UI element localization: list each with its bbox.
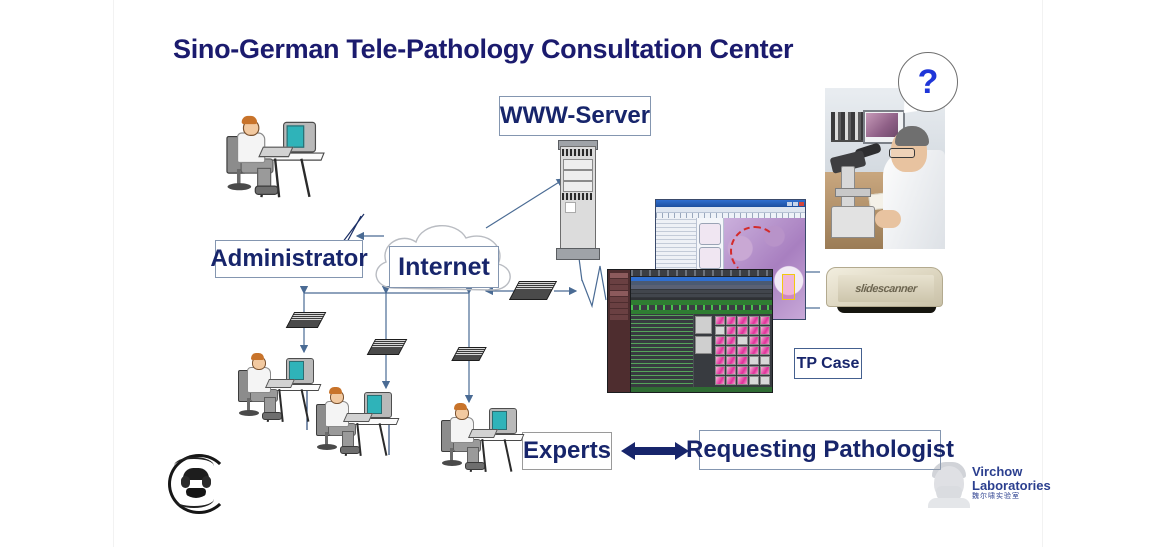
chair-base: [442, 460, 462, 466]
portrait-shoulders: [928, 498, 970, 508]
slide-tile[interactable]: [749, 316, 759, 325]
modem-icon-3: [451, 347, 486, 361]
app-toolbar[interactable]: [631, 270, 772, 277]
rack-base: [556, 248, 600, 260]
logo-line-2: Laboratories: [972, 479, 1051, 493]
app-main: [631, 270, 772, 392]
slide-canvas: Sino-German Tele-Pathology Consultation …: [113, 0, 1043, 547]
pathologist-photo: [825, 88, 945, 249]
slide-tile[interactable]: [760, 346, 770, 355]
rack-vent: [562, 149, 592, 156]
label-experts[interactable]: Experts: [522, 432, 612, 470]
region-of-interest-box[interactable]: [782, 274, 795, 300]
chair-base: [239, 410, 259, 416]
slide-tile[interactable]: [726, 366, 736, 375]
slide-tile[interactable]: [726, 376, 736, 385]
logo-text: Virchow Laboratories 魏尔啸实验室: [972, 465, 1051, 501]
sidebar-item[interactable]: [610, 273, 628, 278]
slide-tile[interactable]: [760, 336, 770, 345]
workstation-expert-2: [314, 382, 406, 472]
person-hair: [454, 403, 467, 410]
slide-tile[interactable]: [715, 366, 725, 375]
minimize-button[interactable]: [787, 202, 792, 206]
virchow-laboratories-logo: Virchow Laboratories 魏尔啸实验室: [926, 458, 1042, 508]
rack-bay: [563, 159, 593, 170]
slide-tile[interactable]: [726, 346, 736, 355]
slide-tile[interactable]: [749, 376, 759, 385]
person-hair: [242, 116, 257, 124]
slide-tile[interactable]: [715, 356, 725, 365]
preview-column: [694, 314, 713, 387]
sidebar-item[interactable]: [610, 285, 628, 290]
person-shoe: [262, 412, 282, 420]
slide-tile[interactable]: [760, 316, 770, 325]
scanner-brand-text: slidescanner: [841, 283, 930, 295]
slide-thumbnail[interactable]: [699, 247, 721, 269]
monitor-screen: [289, 361, 304, 380]
slide-tile[interactable]: [749, 336, 759, 345]
bidirectional-arrow-icon: [619, 438, 691, 464]
sidebar-item[interactable]: [610, 291, 628, 296]
desk-leg: [379, 423, 388, 456]
person-shoe: [465, 462, 485, 470]
slidescanner-device: slidescanner: [820, 263, 947, 320]
microscope-base: [831, 206, 875, 238]
slide-tile[interactable]: [715, 346, 725, 355]
monitor-screen: [287, 125, 305, 147]
seal-portrait-side: [181, 476, 190, 488]
slide-tile[interactable]: [726, 336, 736, 345]
slide-tile[interactable]: [760, 376, 770, 385]
desk-leg: [301, 389, 310, 422]
photo-person-hand: [875, 210, 901, 228]
institution-seal-logo: [166, 452, 228, 512]
slide-tile[interactable]: [715, 326, 725, 335]
person-shoe: [255, 186, 279, 195]
sidebar-item[interactable]: [610, 297, 628, 302]
label-www-server[interactable]: WWW-Server: [499, 96, 651, 136]
person-hair: [329, 387, 342, 394]
slide-tile[interactable]: [760, 366, 770, 375]
slide-tile[interactable]: [760, 356, 770, 365]
slide-preview[interactable]: [695, 336, 712, 354]
server-rack-icon: [556, 140, 598, 258]
person-shoe: [340, 446, 360, 454]
modem-vents: [291, 313, 325, 320]
workstation-expert-3: [439, 398, 531, 488]
person-hair: [251, 353, 264, 360]
slide-management-window[interactable]: [607, 269, 773, 393]
app-status-bar: [631, 387, 772, 392]
slide-tile[interactable]: [760, 326, 770, 335]
workstation-administrator: [224, 110, 333, 237]
label-tp-case[interactable]: TP Case: [794, 348, 862, 379]
close-button[interactable]: [799, 202, 804, 206]
page-title: Sino-German Tele-Pathology Consultation …: [173, 34, 793, 65]
slide-tile[interactable]: [749, 346, 759, 355]
photo-monitor-screen: [866, 113, 898, 137]
sidebar-item[interactable]: [610, 279, 628, 284]
slide-tile[interactable]: [726, 356, 736, 365]
app-content: [631, 314, 772, 387]
slide-tile[interactable]: [715, 376, 725, 385]
chair-base: [317, 444, 337, 450]
sidebar-item[interactable]: [610, 303, 628, 308]
desk-leg: [300, 159, 310, 198]
desk-leg: [504, 439, 513, 472]
slide-tile[interactable]: [715, 316, 725, 325]
metadata-fields: [631, 314, 694, 387]
chair-base: [228, 183, 252, 190]
slide-thumbnail[interactable]: [699, 223, 721, 245]
slide-tile[interactable]: [749, 366, 759, 375]
rack-bay: [563, 181, 593, 192]
microscope-stage: [835, 188, 871, 197]
logo-chinese-text: 魏尔啸实验室: [972, 493, 1051, 500]
rack-led: [565, 202, 576, 213]
monitor-screen: [367, 395, 382, 414]
seal-portrait-body: [186, 488, 206, 498]
keyboard: [343, 413, 373, 422]
keyboard: [265, 379, 295, 388]
monitor-screen: [492, 411, 507, 430]
label-internet[interactable]: Internet: [389, 246, 499, 288]
rack-bay: [563, 170, 593, 181]
table-row[interactable]: [631, 294, 772, 298]
sidebar-item[interactable]: [610, 315, 628, 320]
modem-icon-gateway: [509, 281, 557, 300]
seal-portrait-side: [202, 476, 211, 488]
seal-portrait: [180, 466, 212, 498]
slide-tile[interactable]: [726, 316, 736, 325]
window-titlebar: [656, 200, 805, 207]
slide-preview[interactable]: [695, 316, 712, 334]
slide-tile[interactable]: [737, 326, 747, 335]
slide-tile[interactable]: [737, 316, 747, 325]
slide-tile[interactable]: [749, 356, 759, 365]
question-mark-glyph: ?: [918, 65, 939, 99]
slide-tile[interactable]: [737, 336, 747, 345]
logo-line-1: Virchow: [972, 465, 1051, 479]
sidebar-item[interactable]: [610, 309, 628, 314]
slide-tile[interactable]: [737, 356, 747, 365]
label-requesting-pathologist[interactable]: Requesting Pathologist: [699, 430, 941, 470]
photo-books: [831, 112, 863, 142]
keyboard: [468, 429, 498, 438]
slide-tile[interactable]: [737, 376, 747, 385]
virchow-portrait: [926, 460, 970, 506]
slide-tile[interactable]: [737, 366, 747, 375]
app-sidebar[interactable]: [608, 270, 631, 392]
label-administrator[interactable]: Administrator: [215, 240, 363, 278]
maximize-button[interactable]: [793, 202, 798, 206]
modem-icon-1: [286, 312, 327, 328]
rack-vent: [562, 193, 592, 200]
modem-vents: [372, 340, 406, 347]
slide-tile[interactable]: [749, 326, 759, 335]
question-speech-bubble: ?: [898, 52, 958, 112]
modem-icon-2: [367, 339, 408, 355]
slide-thumbnail-grid[interactable]: [713, 314, 772, 387]
slide-tile[interactable]: [715, 336, 725, 345]
photo-eyeglasses: [889, 148, 915, 158]
keyboard: [258, 147, 293, 158]
slide-tile[interactable]: [726, 326, 736, 335]
modem-vents: [516, 282, 556, 289]
slide-tile[interactable]: [737, 346, 747, 355]
modem-vents: [455, 348, 485, 355]
